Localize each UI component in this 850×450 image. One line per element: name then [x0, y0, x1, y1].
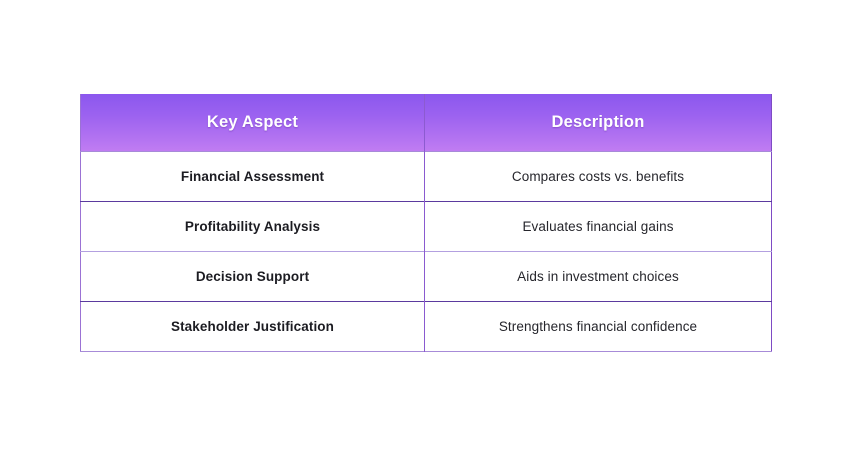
cell-description: Aids in investment choices — [425, 252, 772, 302]
table-row: Stakeholder Justification Strengthens fi… — [81, 302, 772, 352]
cell-description: Strengthens financial confidence — [425, 302, 772, 352]
table-header: Key Aspect Description — [81, 94, 772, 152]
table-row: Decision Support Aids in investment choi… — [81, 252, 772, 302]
table-body: Financial Assessment Compares costs vs. … — [81, 152, 772, 352]
table-row: Financial Assessment Compares costs vs. … — [81, 152, 772, 202]
cell-key-aspect: Stakeholder Justification — [81, 302, 425, 352]
table-row: Profitability Analysis Evaluates financi… — [81, 202, 772, 252]
cell-key-aspect: Profitability Analysis — [81, 202, 425, 252]
cell-description: Compares costs vs. benefits — [425, 152, 772, 202]
cell-key-aspect: Decision Support — [81, 252, 425, 302]
column-header-description: Description — [425, 94, 772, 152]
cell-description: Evaluates financial gains — [425, 202, 772, 252]
comparison-table: Key Aspect Description Financial Assessm… — [80, 94, 772, 352]
column-header-key-aspect: Key Aspect — [81, 94, 425, 152]
cell-key-aspect: Financial Assessment — [81, 152, 425, 202]
comparison-table-container: Key Aspect Description Financial Assessm… — [80, 94, 771, 352]
header-row: Key Aspect Description — [81, 94, 772, 152]
